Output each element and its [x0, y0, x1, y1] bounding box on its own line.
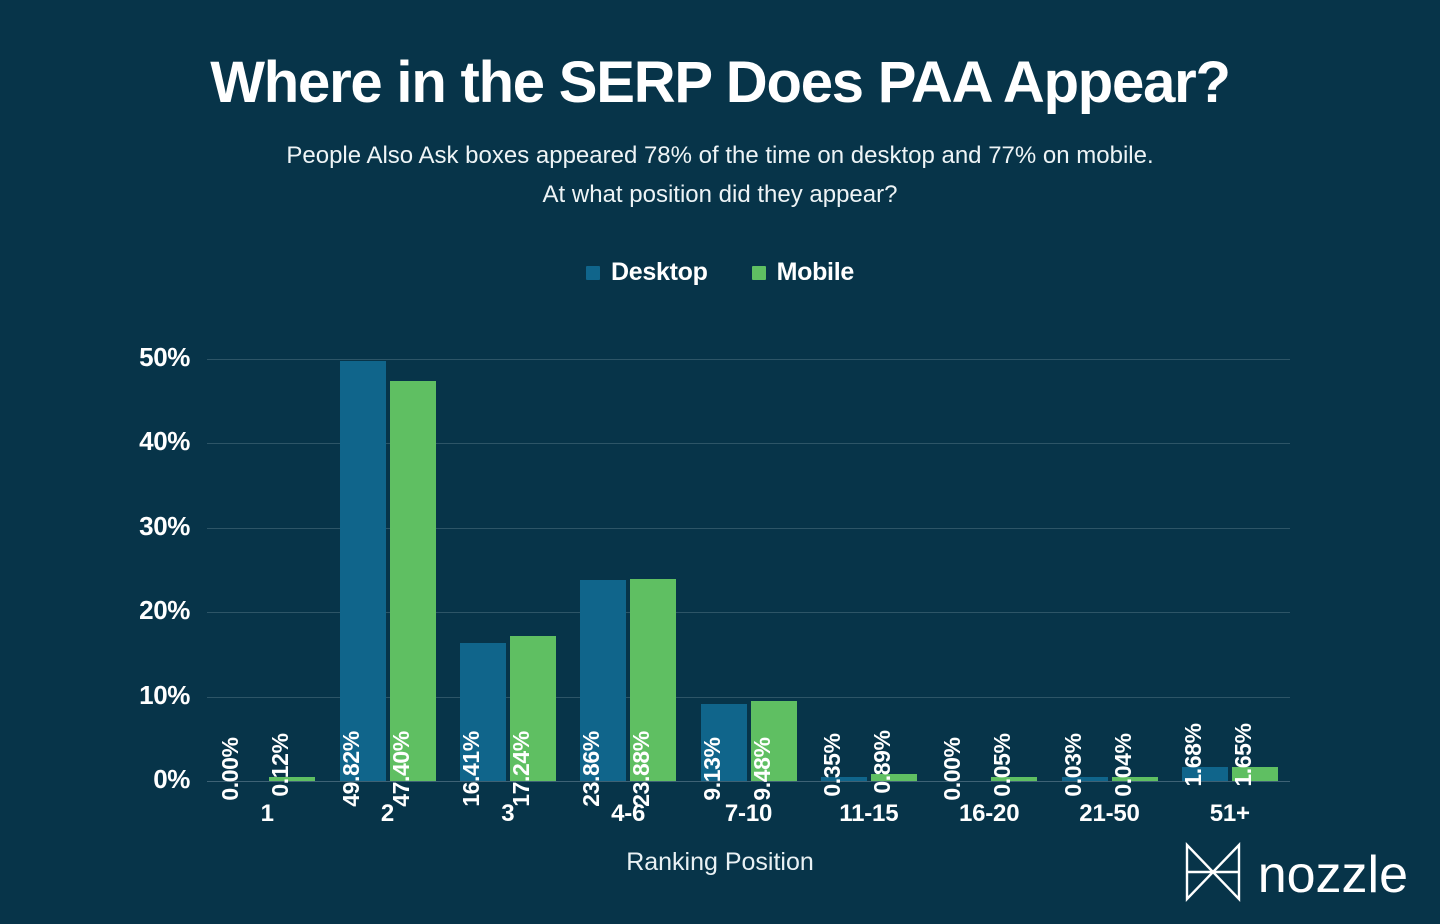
legend-label-desktop: Desktop — [611, 258, 708, 287]
legend-item-desktop[interactable]: Desktop — [586, 258, 708, 287]
bar-rect-desktop[interactable] — [340, 361, 386, 781]
x-axis-tick: 1 — [219, 800, 315, 828]
bar-group: 16.41%17.24% — [460, 308, 556, 781]
y-axis-tick: 0% — [110, 764, 190, 795]
y-axis-tick: 40% — [110, 426, 190, 457]
x-axis-tick: 2 — [340, 800, 436, 828]
bar-rect-mobile[interactable] — [390, 381, 436, 781]
plot-area: 0.00%0.12%49.82%47.40%16.41%17.24%23.86%… — [207, 308, 1290, 781]
bar-value-label: 0.00% — [219, 737, 242, 800]
bar-value-label: 9.13% — [701, 737, 724, 800]
bar-value-label: 23.86% — [580, 731, 603, 807]
x-axis-tick: 7-10 — [701, 800, 797, 828]
nozzle-bowtie-icon — [1182, 841, 1244, 908]
bar-value-label: 17.24% — [510, 731, 533, 807]
bar-group: 9.13%9.48% — [701, 308, 797, 781]
chart-legend: Desktop Mobile — [0, 258, 1440, 287]
y-axis-tick: 10% — [110, 680, 190, 711]
brand-logo: nozzle — [1182, 841, 1408, 908]
chart-subtitle: People Also Ask boxes appeared 78% of th… — [0, 137, 1440, 215]
bar-group: 1.68%1.65% — [1182, 308, 1278, 781]
bar-group: 0.00%0.12% — [219, 308, 315, 781]
x-axis-tick: 51+ — [1182, 800, 1278, 828]
bar-value-label: 0.12% — [269, 733, 292, 796]
bar-group: 0.03%0.04% — [1062, 308, 1158, 781]
bar-value-label: 0.89% — [871, 730, 894, 793]
x-axis-tick: 4-6 — [580, 800, 676, 828]
bar-group: 49.82%47.40% — [340, 308, 436, 781]
bar-value-label: 9.48% — [751, 737, 774, 800]
x-axis-tick: 3 — [460, 800, 556, 828]
bar-value-label: 0.35% — [821, 733, 844, 796]
bar-value-label: 23.88% — [630, 731, 653, 807]
bar-value-label: 0.04% — [1112, 733, 1135, 796]
x-axis-tick: 11-15 — [821, 800, 917, 828]
bar-value-label: 47.40% — [390, 731, 413, 807]
bar-value-label: 16.41% — [460, 731, 483, 807]
bar-group: 23.86%23.88% — [580, 308, 676, 781]
chart-header: Where in the SERP Does PAA Appear? Peopl… — [0, 0, 1440, 214]
y-axis-tick: 50% — [110, 342, 190, 373]
bar-group: 0.35%0.89% — [821, 308, 917, 781]
y-axis-tick: 30% — [110, 511, 190, 542]
logo-text: nozzle — [1258, 849, 1408, 901]
legend-swatch-mobile — [752, 266, 766, 280]
bar-group: 0.00%0.05% — [941, 308, 1037, 781]
legend-label-mobile: Mobile — [777, 258, 854, 287]
bar-value-label: 49.82% — [340, 731, 363, 807]
bar-value-label: 0.03% — [1062, 733, 1085, 796]
x-axis-tick: 16-20 — [941, 800, 1037, 828]
y-axis-tick: 20% — [110, 595, 190, 626]
chart-subtitle-line-1: People Also Ask boxes appeared 78% of th… — [0, 137, 1440, 176]
bar-value-label: 0.00% — [941, 737, 964, 800]
x-axis-tick: 21-50 — [1062, 800, 1158, 828]
bar-groups: 0.00%0.12%49.82%47.40%16.41%17.24%23.86%… — [207, 308, 1290, 781]
chart-subtitle-line-2: At what position did they appear? — [0, 176, 1440, 215]
bar-value-label: 0.05% — [991, 733, 1014, 796]
legend-item-mobile[interactable]: Mobile — [752, 258, 854, 287]
bar-value-label: 1.65% — [1232, 723, 1255, 786]
page-title: Where in the SERP Does PAA Appear? — [0, 52, 1440, 115]
bar-value-label: 1.68% — [1182, 723, 1205, 786]
legend-swatch-desktop — [586, 266, 600, 280]
